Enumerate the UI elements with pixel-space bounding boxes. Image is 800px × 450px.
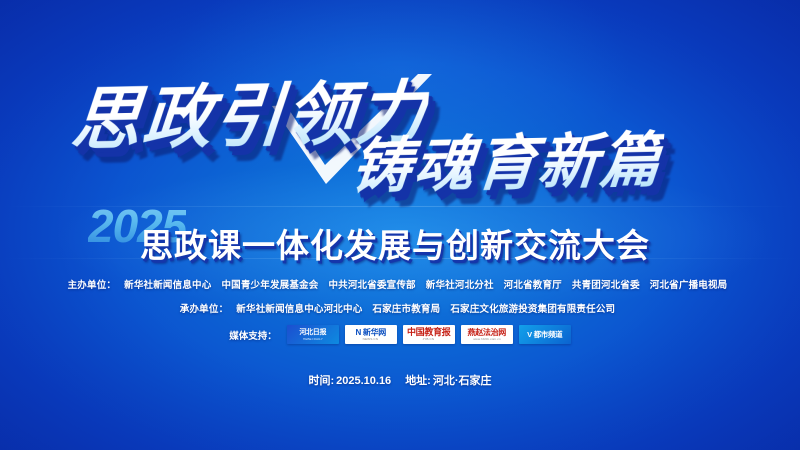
media-logo-text: V 都市频道 bbox=[527, 330, 562, 339]
host-unit-item: 共青团河北省委 bbox=[572, 280, 640, 291]
media-support-row: 媒体支持： 河北日报 HEBEI DAILY N 新华网 NEWS.CN 中国教… bbox=[0, 325, 800, 344]
media-logo-text: 中国教育报 bbox=[407, 328, 451, 337]
media-support-label: 媒体支持： bbox=[229, 328, 277, 342]
host-unit-item: 中共河北省委宣传部 bbox=[328, 280, 415, 291]
media-logo-text: N 新华网 bbox=[356, 328, 387, 337]
background-glow-upper bbox=[80, 0, 720, 225]
organizer-units-line: 承办单位：新华社新闻信息中心河北中心石家庄市教育局石家庄文化旅游投资集团有限责任… bbox=[0, 301, 800, 315]
media-logo-xinhuanet: N 新华网 NEWS.CN bbox=[345, 325, 397, 344]
organizer-units-label: 承办单位： bbox=[180, 304, 229, 315]
media-logo-china-education-daily: 中国教育报 JYB.CN bbox=[403, 325, 455, 344]
host-unit-item: 河北省广播电视局 bbox=[650, 280, 728, 291]
time-value: 2025.10.16 bbox=[336, 375, 391, 387]
poster-subtitle: 思政课一体化发展与创新交流大会 bbox=[140, 219, 650, 267]
event-footer: 时间:2025.10.16地址:河北·石家庄 bbox=[0, 372, 800, 388]
title-line-2: 铸魂育新篇 bbox=[349, 127, 665, 201]
place-value: 河北·石家庄 bbox=[433, 375, 492, 387]
media-logo-subtext: JYB.CN bbox=[423, 337, 435, 341]
checkmark-swoosh-icon bbox=[268, 72, 438, 207]
poster-title: 思政引领力 铸魂育新篇 bbox=[0, 0, 800, 215]
host-unit-item: 新华社新闻信息中心 bbox=[124, 280, 211, 291]
organizer-unit-item: 石家庄文化旅游投资集团有限责任公司 bbox=[450, 304, 615, 315]
media-logo-subtext: www.hbfzb.com.cn bbox=[473, 337, 500, 341]
host-units-line: 主办单位：新华社新闻信息中心中国青少年发展基金会中共河北省委宣传部新华社河北分社… bbox=[0, 277, 800, 291]
media-logo-text: 燕赵法治网 bbox=[468, 328, 507, 337]
media-logo-subtext: HEBEI DAILY bbox=[303, 337, 323, 341]
title-line-1: 思政引领力 bbox=[68, 74, 430, 159]
host-unit-item: 中国青少年发展基金会 bbox=[221, 280, 318, 291]
media-logo-city-channel: V 都市频道 bbox=[519, 325, 571, 344]
media-logo-subtext: NEWS.CN bbox=[363, 337, 378, 341]
host-unit-item: 河北省教育厅 bbox=[504, 280, 562, 291]
time-label: 时间: bbox=[308, 375, 334, 387]
place-label: 地址: bbox=[405, 375, 431, 387]
media-logo-fazhi-net: 燕赵法治网 www.hbfzb.com.cn bbox=[461, 325, 513, 344]
organizer-unit-item: 新华社新闻信息中心河北中心 bbox=[236, 304, 362, 315]
media-logo-text: 河北日报 bbox=[299, 328, 326, 337]
organizer-unit-item: 石家庄市教育局 bbox=[372, 304, 440, 315]
light-streak-upper bbox=[0, 206, 800, 207]
host-unit-item: 新华社河北分社 bbox=[426, 280, 494, 291]
host-units-label: 主办单位： bbox=[68, 280, 117, 291]
event-poster: 思政引领力 铸魂育新篇 2025 思政课一体化发展与创新交流大会 主办单位：新华… bbox=[0, 0, 800, 450]
media-logo-hebei-daily: 河北日报 HEBEI DAILY bbox=[287, 325, 339, 344]
